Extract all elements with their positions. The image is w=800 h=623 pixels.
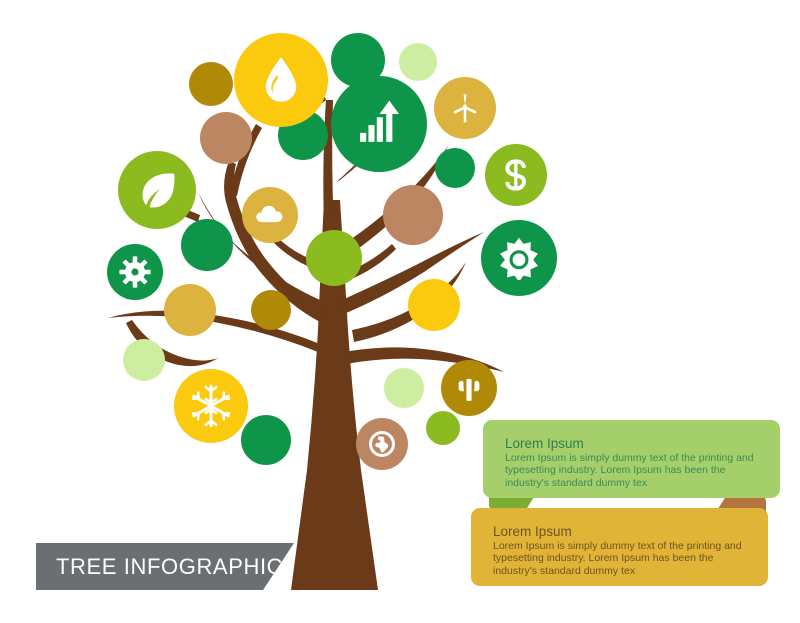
dot-dark-gold-top: [189, 62, 233, 106]
dot-pale-green-left: [123, 339, 165, 381]
icon-node-globe[interactable]: Globe: [356, 418, 408, 470]
icon-node-leaf[interactable]: Leaf: [118, 151, 196, 229]
dot-pale-green-top: [399, 43, 437, 81]
icon-node-wind-turbine[interactable]: Wind Turbine: [434, 77, 496, 139]
icon-node-growth-chart[interactable]: Growth Chart: [331, 76, 427, 172]
callout-gold-title: Lorem Ipsum: [493, 524, 748, 539]
icon-node-sun[interactable]: Sun: [481, 220, 557, 296]
dot-green-bottom: [241, 415, 291, 465]
dot-light-green-low: [426, 411, 460, 445]
icon-node-dollar[interactable]: Dollar: [485, 144, 547, 206]
icon-node-water-drop[interactable]: Water Drop: [234, 33, 328, 127]
callout-gold[interactable]: Lorem Ipsum Lorem Ipsum is simply dummy …: [471, 508, 768, 586]
dot-dark-gold-mid: [251, 290, 291, 330]
dot-light-green-mid: [306, 230, 362, 286]
title-banner: TREE INFOGRAPHIC: [36, 543, 294, 590]
callout-green[interactable]: Lorem Ipsum Lorem Ipsum is simply dummy …: [483, 420, 780, 498]
page-title: TREE INFOGRAPHIC: [36, 554, 283, 580]
icon-node-snowflake[interactable]: Snowflake: [174, 369, 248, 443]
dollar-icon: [507, 160, 524, 190]
dot-yellow-right: [408, 279, 460, 331]
icon-node-cactus[interactable]: Cactus: [441, 360, 497, 416]
callout-green-body: Lorem Ipsum is simply dummy text of the …: [505, 452, 760, 489]
dot-pale-green-mid: [384, 368, 424, 408]
gear-icon: [119, 256, 150, 287]
dot-green-left: [181, 219, 233, 271]
callout-gold-body: Lorem Ipsum is simply dummy text of the …: [493, 540, 748, 577]
callout-green-title: Lorem Ipsum: [505, 436, 760, 451]
tree-infographic-canvas: Water DropGrowth ChartWind TurbineDollar…: [0, 0, 800, 623]
icon-node-cloud[interactable]: Cloud: [242, 187, 298, 243]
dot-tan-mid: [383, 185, 443, 245]
dot-gold-left: [164, 284, 216, 336]
icon-node-gear[interactable]: Gear: [107, 244, 163, 300]
dot-green-mid: [435, 148, 475, 188]
dot-tan-upper: [200, 112, 252, 164]
